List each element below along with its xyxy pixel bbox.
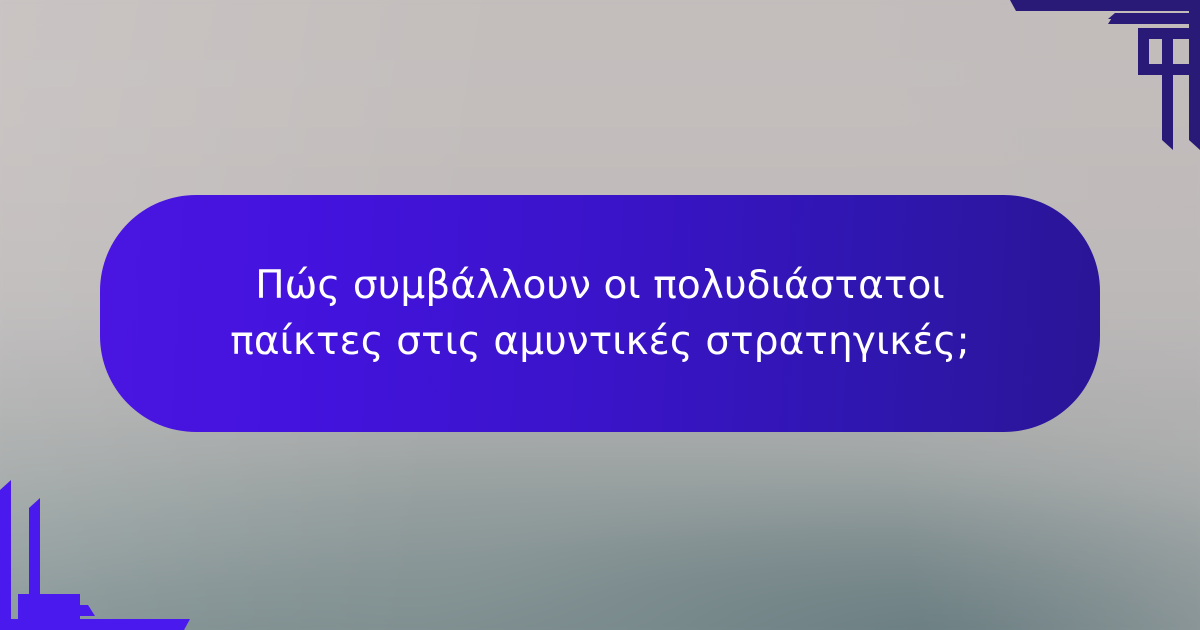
card-title: Πώς συμβάλλουν οι πολυδιάστατοι παίκτες … (205, 258, 995, 369)
question-card: Πώς συμβάλλουν οι πολυδιάστατοι παίκτες … (100, 195, 1100, 432)
social-card-canvas: Πώς συμβάλλουν οι πολυδιάστατοι παίκτες … (0, 0, 1200, 630)
